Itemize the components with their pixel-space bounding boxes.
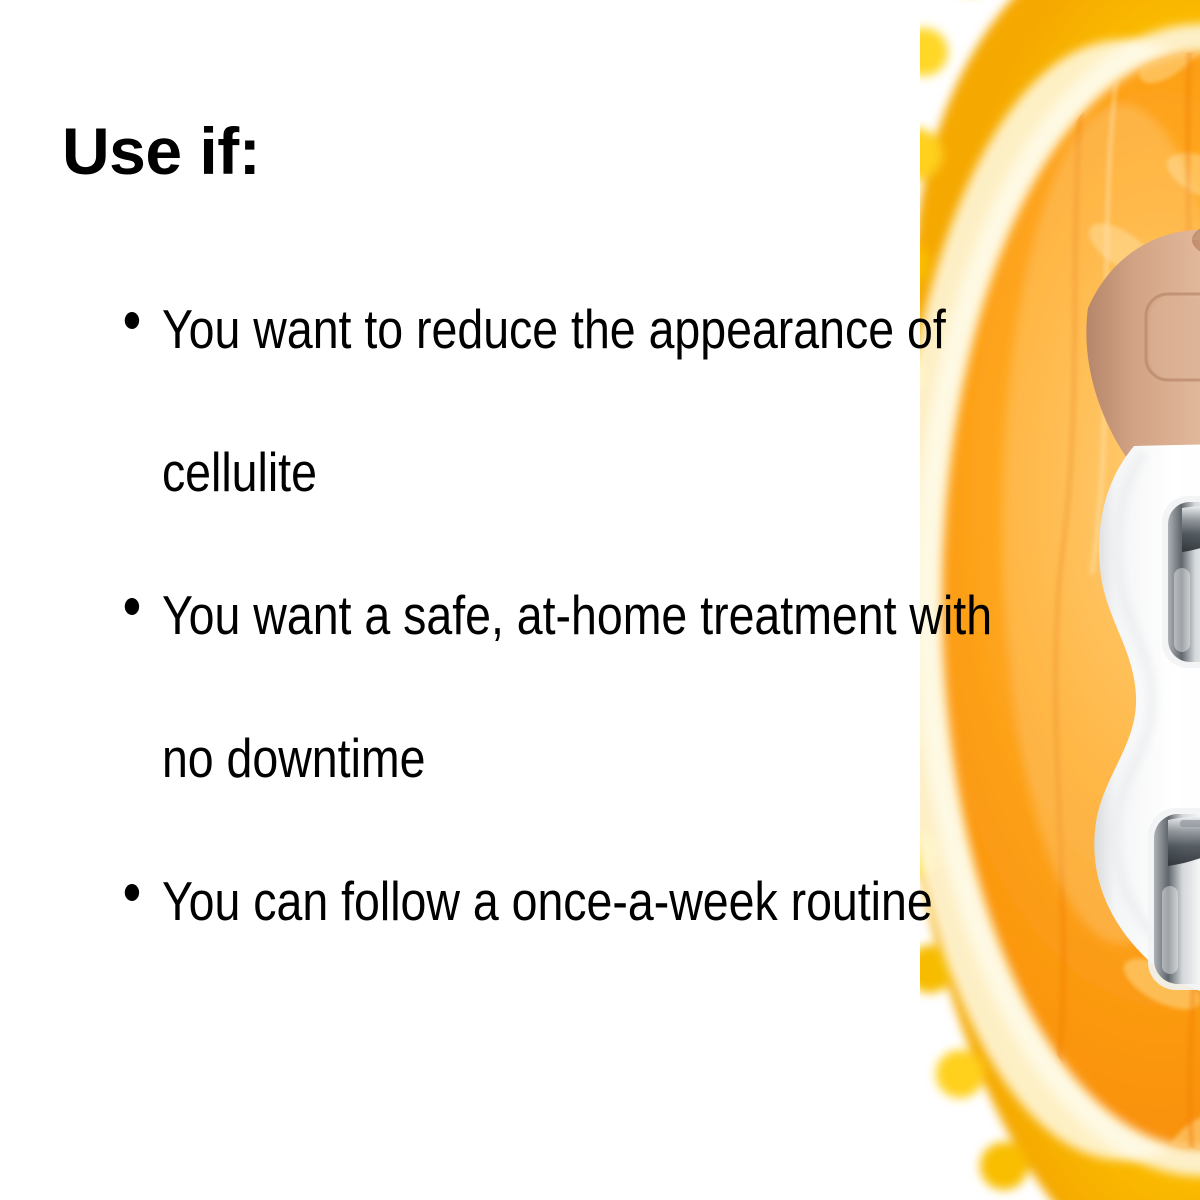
list-item: You want to reduce the appearance of cel… bbox=[118, 258, 998, 544]
benefits-list: You want to reduce the appearance of cel… bbox=[118, 258, 958, 973]
list-item-label: You want to reduce the appearance of cel… bbox=[162, 298, 946, 503]
bullet-point-icon bbox=[125, 312, 139, 329]
cellulite-massage-device-image bbox=[984, 196, 1200, 1096]
page-title: Use if: bbox=[62, 118, 260, 184]
text-content: Use if: You want to reduce the appearanc… bbox=[0, 0, 960, 1200]
slide-canvas: Use if: You want to reduce the appearanc… bbox=[0, 0, 1200, 1200]
bullet-point-icon bbox=[125, 884, 139, 901]
list-item-label: You can follow a once-a-week routine bbox=[162, 870, 933, 932]
list-item: You want a safe, at-home treatment with … bbox=[118, 544, 998, 830]
list-item-label: You want a safe, at-home treatment with … bbox=[162, 584, 992, 789]
list-item: You can follow a once-a-week routine bbox=[118, 830, 998, 973]
bullet-point-icon bbox=[125, 598, 139, 615]
